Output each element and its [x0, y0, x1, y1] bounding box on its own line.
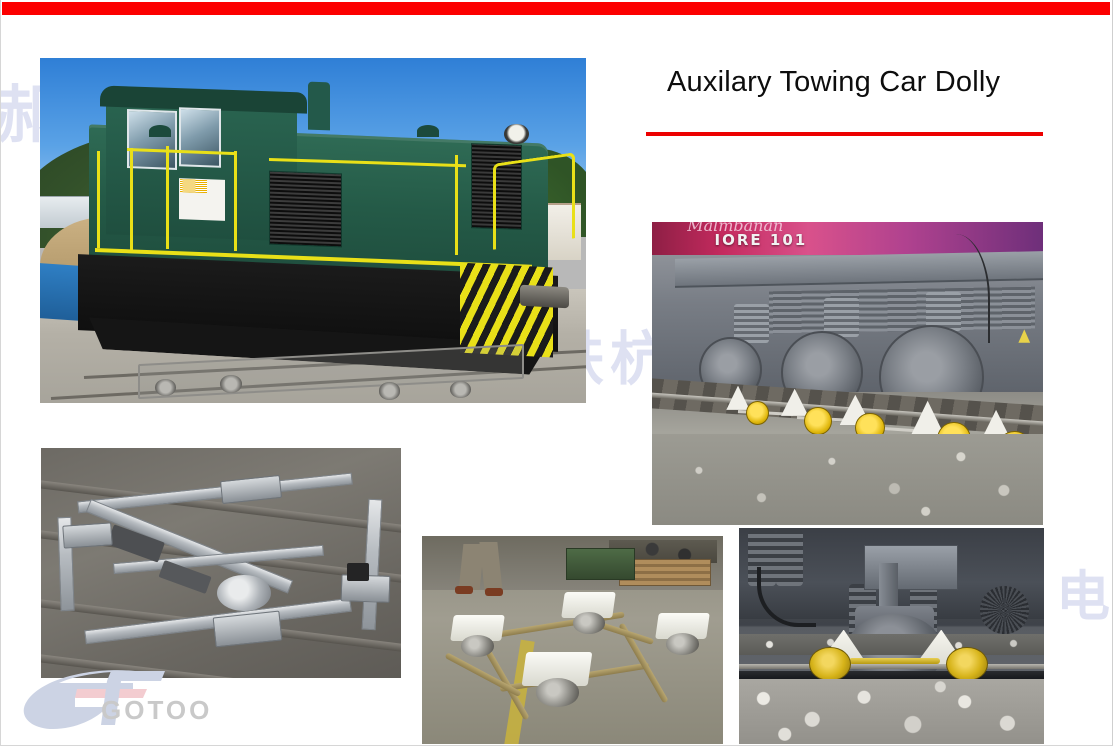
photo-iore-locomotive[interactable]: Malmbanan IORE 101: [652, 222, 1043, 525]
workshop-scene: [422, 536, 723, 744]
photo-bogie-closeup[interactable]: Close-up of auxiliary towing dolly with …: [739, 528, 1044, 744]
roof-cap-front: [149, 125, 171, 137]
traction-box: [864, 545, 958, 590]
locomotive-number-text: IORE 101: [715, 231, 808, 249]
page-title: Auxilary Towing Car Dolly: [667, 66, 1000, 99]
photo-dolly-workshop[interactable]: Four-wheel auxiliary towing dolly set wi…: [422, 536, 723, 744]
dolly-wheel-unit-4: [524, 652, 590, 706]
handrail-vertical-4: [234, 151, 237, 251]
dolly-wheel-unit-1: [452, 615, 503, 657]
parts-cart: [566, 548, 634, 579]
dolly-wheel-3: [379, 382, 401, 399]
rail-head: [739, 664, 1044, 669]
corner-fitting-3: [212, 610, 282, 646]
lifting-pillar: [879, 563, 897, 606]
buffer-beam: [520, 284, 569, 307]
data-plate: [179, 178, 225, 221]
dolly-roller: [536, 678, 578, 706]
worker-shoe-right: [485, 588, 503, 596]
photo-dolly-frame[interactable]: Galvanized steel auxiliary towing dolly …: [41, 448, 401, 678]
corner-fitting-2: [62, 522, 112, 548]
dolly-yellow-wheel-left: [809, 647, 851, 681]
photo-locomotive[interactable]: Green diesel shunting locomotive lifted …: [40, 58, 586, 403]
roof-cap-rear: [417, 125, 439, 137]
ballast-behind-track: [739, 634, 1044, 656]
trackside-ballast-stones: [652, 434, 1043, 525]
exhaust-stack: [308, 82, 330, 131]
dolly-wheel-unit-2: [563, 592, 614, 634]
company-logo[interactable]: GOTOO: [15, 667, 225, 739]
handrail-vertical-3: [166, 146, 169, 250]
brake-disc-fan: [980, 586, 1029, 634]
latch-block: [347, 563, 369, 581]
dolly-frame-scene: [41, 448, 401, 678]
foreground-ballast: [739, 679, 1044, 744]
bogie-scene: [739, 528, 1044, 744]
locomotive-scene: [40, 58, 586, 403]
logo-wordmark: GOTOO: [101, 695, 212, 726]
warning-stripes: [460, 263, 553, 358]
dolly-roller: [461, 635, 494, 657]
handrail-vertical-2: [130, 148, 133, 252]
dolly-cross-bar: [849, 658, 941, 664]
suspension-linkage: [769, 286, 1035, 333]
handrail-vertical-5: [455, 155, 458, 255]
dolly-roller: [666, 633, 699, 655]
rail-web: [739, 671, 1044, 680]
title-underline-rule: [646, 132, 1043, 136]
dolly-wheel-2: [220, 375, 242, 392]
coil-spring-1: [734, 304, 769, 343]
manufacturer-logo-icon: [180, 179, 207, 193]
worker-shoe-left: [455, 586, 473, 594]
slide-canvas: 郝亚朋 股份 铁杭 电脑 Auxilary Towing Car Dolly: [0, 0, 1113, 746]
dolly-roller: [573, 612, 606, 634]
headlamp: [504, 124, 529, 145]
dolly-wheel-unit-3: [657, 613, 708, 655]
top-accent-bar: [2, 2, 1110, 15]
cab-window-left: [127, 109, 177, 170]
watermark-fragment-4: 电脑: [1056, 570, 1113, 624]
end-platform-railing: [493, 152, 575, 249]
iore-scene: Malmbanan IORE 101: [652, 222, 1043, 525]
dolly-yellow-wheel-2: [804, 407, 831, 435]
dolly-wheel-4: [450, 381, 472, 398]
dolly-yellow-wheel-right: [946, 647, 988, 681]
handrail-vertical-1: [97, 151, 100, 248]
engine-grille-front: [269, 170, 342, 247]
cab-window-right: [179, 107, 221, 168]
